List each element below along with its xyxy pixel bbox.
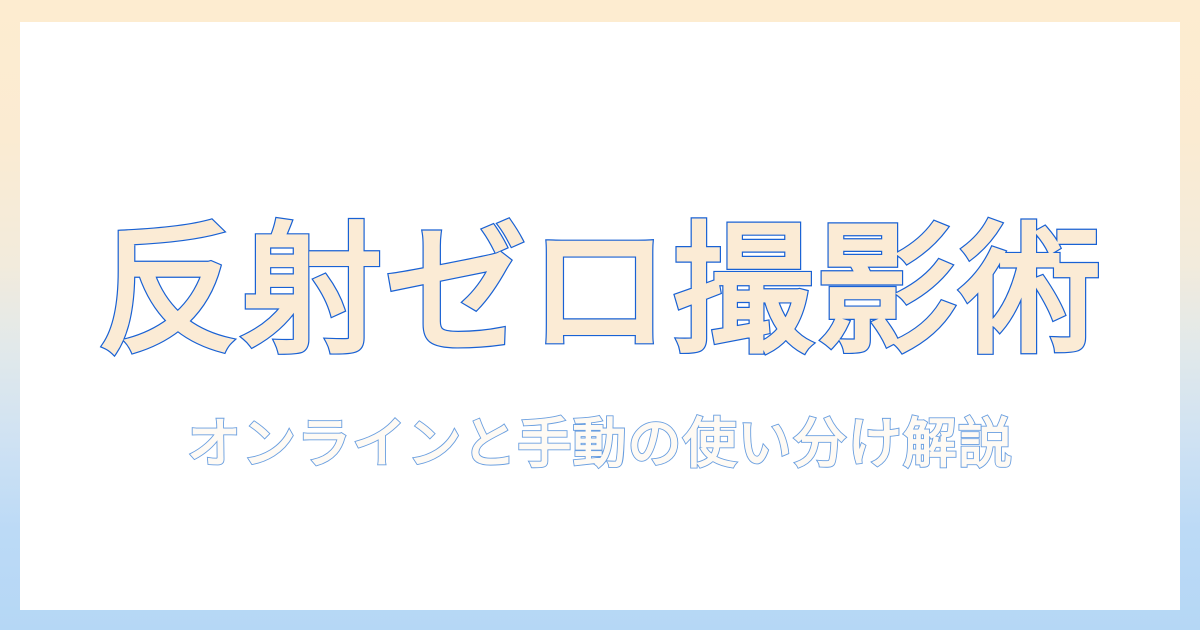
- hero-content: 反射ゼロ撮影術 オンラインと手動の使い分け解説: [20, 22, 1180, 610]
- white-card: 反射ゼロ撮影術 オンラインと手動の使い分け解説: [20, 22, 1180, 610]
- page-subtitle: オンラインと手動の使い分け解説: [187, 414, 1013, 473]
- gradient-frame: 反射ゼロ撮影術 オンラインと手動の使い分け解説: [0, 0, 1200, 630]
- page-title: 反射ゼロ撮影術: [97, 217, 1103, 368]
